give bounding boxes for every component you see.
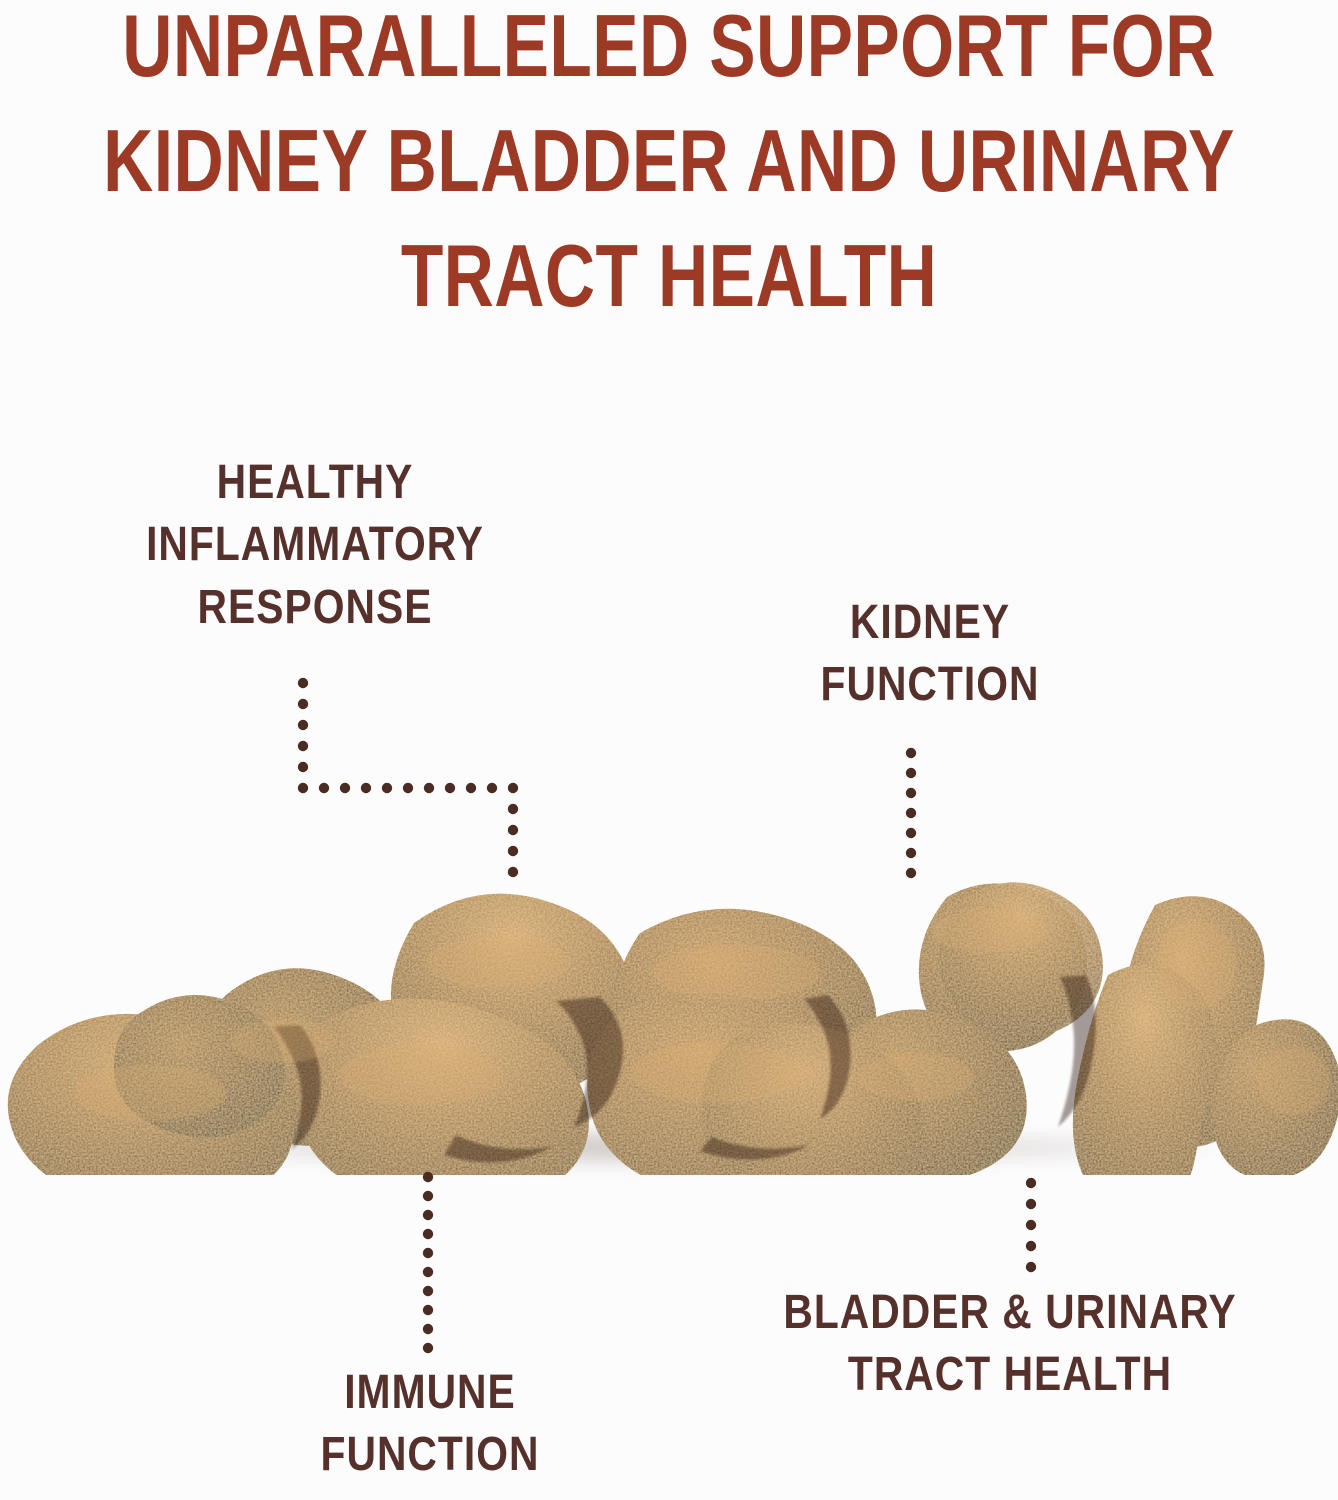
callout-line: FUNCTION: [260, 1424, 600, 1486]
kibble-cluster: [8, 882, 1338, 1175]
callout-line: BLADDER & URINARY: [747, 1282, 1274, 1344]
callout-line: KIDNEY: [752, 592, 1109, 654]
callout-line: IMMUNE: [260, 1362, 600, 1424]
callout-line: TRACT HEALTH: [747, 1344, 1274, 1406]
headline-line-2: KIDNEY BLADDER AND URINARY: [103, 117, 1235, 205]
callout-bladder-urinary-tract-health: BLADDER & URINARY TRACT HEALTH: [700, 1282, 1320, 1407]
headline-line-1: UNPARALLELED SUPPORT FOR: [122, 2, 1215, 90]
leader-line-inflammatory: [292, 678, 542, 888]
callout-line: RESPONSE: [111, 577, 519, 639]
headline-line-3: TRACT HEALTH: [401, 232, 937, 320]
callout-kidney-function: KIDNEY FUNCTION: [720, 592, 1140, 717]
callout-line: HEALTHY: [111, 452, 519, 514]
leader-line-immune: [417, 1172, 447, 1357]
callout-line: FUNCTION: [752, 654, 1109, 716]
infographic-canvas: UNPARALLELED SUPPORT FOR KIDNEY BLADDER …: [0, 0, 1338, 1500]
leader-line-kidney: [900, 748, 930, 878]
callout-healthy-inflammatory-response: HEALTHY INFLAMMATORY RESPONSE: [75, 452, 555, 639]
leader-line-bladder: [1020, 1178, 1050, 1278]
callout-immune-function: IMMUNE FUNCTION: [230, 1362, 630, 1487]
kibble-pile-image: [0, 845, 1338, 1175]
callout-line: INFLAMMATORY: [111, 514, 519, 576]
